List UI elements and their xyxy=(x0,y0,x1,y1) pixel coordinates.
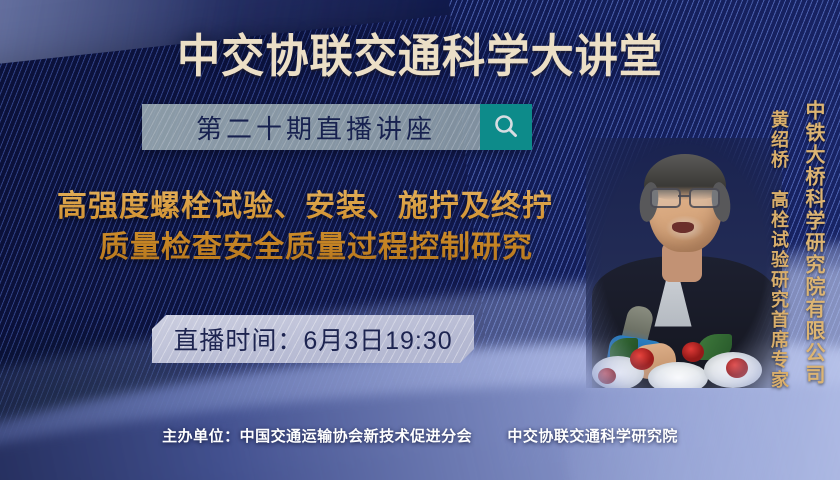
poster-content: 中交协联交通科学大讲堂 第二十期直播讲座 高强度螺栓试验、安装、施拧及终拧 质量… xyxy=(0,0,840,480)
series-label: 第二十期直播讲座 xyxy=(142,104,480,150)
footer-organizers: 主办单位：中国交通运输协会新技术促进分会 中交协联交通科学研究院 xyxy=(0,425,840,446)
speaker-name-title: 黄绍桥 高栓试验研究首席专家 xyxy=(766,110,792,390)
lecture-topic: 高强度螺栓试验、安装、施拧及终拧 质量检查安全质量过程控制研究 xyxy=(0,186,610,269)
search-icon xyxy=(491,112,521,142)
search-button[interactable] xyxy=(480,104,532,150)
live-time-badge: 直播时间：6月3日19:30 xyxy=(152,315,474,363)
topic-line-2: 质量检查安全质量过程控制研究 xyxy=(0,227,610,268)
speaker-organization: 中铁大桥科学研究院有限公司 xyxy=(799,100,828,386)
poster-canvas: 中交协联交通科学大讲堂 第二十期直播讲座 高强度螺栓试验、安装、施拧及终拧 质量… xyxy=(0,0,840,480)
live-time-label: 直播时间：6月3日19:30 xyxy=(173,321,452,357)
series-bar[interactable]: 第二十期直播讲座 xyxy=(142,104,532,150)
topic-line-1: 高强度螺栓试验、安装、施拧及终拧 xyxy=(0,186,610,227)
main-title: 中交协联交通科学大讲堂 xyxy=(25,20,815,86)
footer-host: 主办单位：中国交通运输协会新技术促进分会 xyxy=(162,428,472,445)
footer-institute: 中交协联交通科学研究院 xyxy=(507,428,678,445)
